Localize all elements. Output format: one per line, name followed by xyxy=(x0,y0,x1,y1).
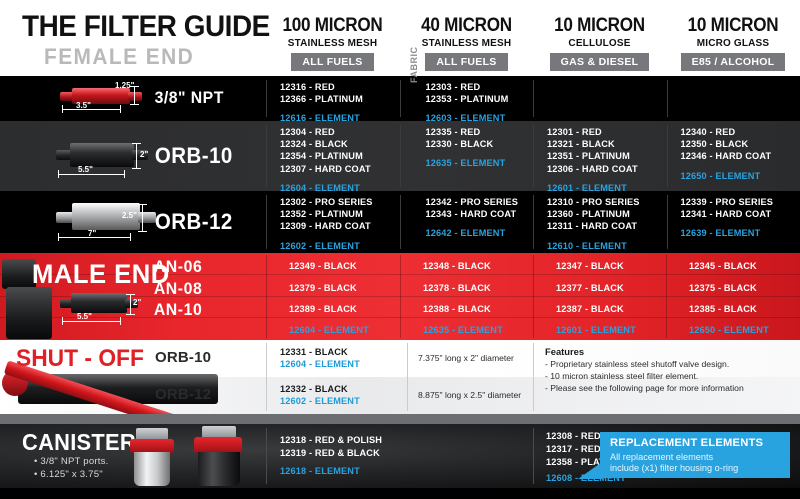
row-label-cell: 7" 2.5" ORB-12 xyxy=(0,191,266,253)
filter-photo-orb10 xyxy=(56,142,148,168)
cell-orb12-10micron-cellulose: 12310 - PRO SERIES 12360 - PLATINUM 1231… xyxy=(533,191,667,253)
part-number: 12341 - HARD COAT xyxy=(681,208,800,220)
part-number: 12347 - BLACK xyxy=(556,261,624,271)
part-number-element: 12639 - ELEMENT xyxy=(681,227,800,239)
cell-orb10-100micron: 12304 - RED 12324 - BLACK 12354 - PLATIN… xyxy=(266,121,400,191)
part-number: 12387 - BLACK xyxy=(556,304,624,314)
part-number: 12354 - PLATINUM xyxy=(280,150,400,162)
canister-bullet: • 6.125" x 3.75" xyxy=(34,469,103,480)
fabric-side-note: FABRIC xyxy=(409,47,419,84)
feature-item: - 10 micron stainless steel filter eleme… xyxy=(545,371,698,381)
part-number: 12302 - PRO SERIES xyxy=(280,196,400,208)
part-number: 12331 - BLACK xyxy=(280,347,348,357)
shutoff-dimension: 8.875" long x 2.5" diameter xyxy=(418,390,521,400)
canister-title: CANISTER xyxy=(22,429,136,456)
callout-line-1: All replacement elements xyxy=(610,452,713,463)
header-fuel-badge: ALL FUELS xyxy=(425,53,507,71)
page-header: THE FILTER GUIDE FEMALE END 100 MICRON S… xyxy=(0,0,800,76)
row-label-orb-10: ORB-10 xyxy=(155,143,233,169)
male-size-an-10: AN-10 xyxy=(154,300,202,320)
shutoff-dimension: 7.375" long x 2" diameter xyxy=(418,353,514,363)
shut-off-section: SHUT - OFF ORB-10 12331 - BLACK 12604 - … xyxy=(0,340,800,414)
cell-38npt-100micron: 12316 - RED 12366 - PLATINUM 12616 - ELE… xyxy=(266,76,400,121)
part-number-element: 12635 - ELEMENT xyxy=(423,325,503,335)
part-number: 12307 - HARD COAT xyxy=(280,163,400,175)
header-column-100-micron: 100 MICRON STAINLESS MESH ALL FUELS xyxy=(266,16,399,71)
part-number: 12311 - HARD COAT xyxy=(547,220,667,232)
shut-off-title: SHUT - OFF xyxy=(16,345,144,373)
filter-photo-orb12 xyxy=(56,203,156,231)
part-number: 12377 - BLACK xyxy=(556,283,624,293)
dimension-length: 3.5" xyxy=(76,101,91,110)
dimension-diameter: 2.5" xyxy=(122,211,137,220)
table-row-orb-10: 5.5" 2" ORB-10 12304 - RED 12324 - BLACK… xyxy=(0,121,800,191)
header-micron-label: 40 MICRON xyxy=(407,16,527,36)
part-number: 12352 - PLATINUM xyxy=(280,208,400,220)
dimension-length: 5.5" xyxy=(78,165,93,174)
cell-38npt-40micron: FABRIC 12303 - RED 12353 - PLATINUM 1260… xyxy=(400,76,534,121)
callout-line-2: include (x1) filter housing o-ring xyxy=(610,463,738,474)
part-number-element: 12604 - ELEMENT xyxy=(289,325,369,335)
part-number: 12319 - RED & BLACK xyxy=(280,448,380,458)
part-number: 12301 - RED xyxy=(547,126,667,138)
part-number-element: 12635 - ELEMENT xyxy=(426,157,534,169)
part-number-element: 12642 - ELEMENT xyxy=(426,227,534,239)
filter-photo-male xyxy=(60,293,140,313)
dimension-length: 5.5" xyxy=(77,312,92,321)
part-number: 12349 - BLACK xyxy=(289,261,357,271)
part-number: 12306 - HARD COAT xyxy=(547,163,667,175)
part-number-element: 12618 - ELEMENT xyxy=(280,466,360,476)
part-number: 12304 - RED xyxy=(280,126,400,138)
canister-bullet: • 3/8" NPT ports. xyxy=(34,456,109,467)
part-number: 12330 - BLACK xyxy=(426,138,534,150)
part-number-element: 12610 - ELEMENT xyxy=(547,240,667,252)
dimension-diameter: 2" xyxy=(133,298,141,307)
part-number: 12303 - RED xyxy=(426,81,534,93)
cell-orb10-10micron-cellulose: 12301 - RED 12321 - BLACK 12351 - PLATIN… xyxy=(533,121,667,191)
part-number: 12375 - BLACK xyxy=(689,283,757,293)
header-fuel-badge: E85 / ALCOHOL xyxy=(681,53,786,71)
part-number: 12350 - BLACK xyxy=(681,138,800,150)
part-number-element: 12650 - ELEMENT xyxy=(681,170,800,182)
filter-guide-page: THE FILTER GUIDE FEMALE END 100 MICRON S… xyxy=(0,0,800,499)
section-separator-bar xyxy=(0,414,800,424)
part-number: 12316 - RED xyxy=(280,81,400,93)
part-number: 12351 - PLATINUM xyxy=(547,150,667,162)
canister-photo-polish xyxy=(122,428,182,486)
part-number: 12346 - HARD COAT xyxy=(681,150,800,162)
part-number-element: 12650 - ELEMENT xyxy=(689,325,769,335)
header-material-label: STAINLESS MESH xyxy=(269,37,395,49)
part-number: 12310 - PRO SERIES xyxy=(547,196,667,208)
male-size-an-06: AN-06 xyxy=(154,257,202,277)
dimension-diameter: 1.25" xyxy=(115,81,134,90)
page-subtitle: FEMALE END xyxy=(44,44,194,70)
part-number: 12345 - BLACK xyxy=(689,261,757,271)
part-number: 12388 - BLACK xyxy=(423,304,491,314)
cell-orb12-40micron: 12342 - PRO SERIES 12343 - HARD COAT 126… xyxy=(400,191,534,253)
header-material-label: CELLULOSE xyxy=(536,37,662,49)
part-number: 12342 - PRO SERIES xyxy=(426,196,534,208)
features-title: Features xyxy=(545,346,584,357)
cell-orb10-40micron: 12335 - RED 12330 - BLACK 12635 - ELEMEN… xyxy=(400,121,534,191)
replacement-elements-callout: REPLACEMENT ELEMENTS All replacement ele… xyxy=(600,432,790,478)
header-fuel-badge: ALL FUELS xyxy=(291,53,373,71)
shutoff-row-label-orb-10: ORB-10 xyxy=(155,349,211,366)
part-number: 12389 - BLACK xyxy=(289,304,357,314)
cell-orb12-100micron: 12302 - PRO SERIES 12352 - PLATINUM 1230… xyxy=(266,191,400,253)
part-number: 12340 - RED xyxy=(681,126,800,138)
part-number: 12332 - BLACK xyxy=(280,384,348,394)
table-row-38-npt: 3.5" 1.25" 3/8" NPT 12316 - RED 12366 - … xyxy=(0,76,800,121)
header-micron-label: 10 MICRON xyxy=(540,16,660,36)
cell-38npt-10micron-microglass xyxy=(667,76,800,121)
part-number: 12348 - BLACK xyxy=(423,261,491,271)
header-column-10-micron-micro-glass: 10 MICRON MICRO GLASS E85 / ALCOHOL xyxy=(666,16,800,71)
canister-photo-black xyxy=(188,426,250,486)
male-end-title: MALE END xyxy=(32,259,170,290)
part-number: 12335 - RED xyxy=(426,126,534,138)
part-number-element: 12602 - ELEMENT xyxy=(280,240,400,252)
callout-title: REPLACEMENT ELEMENTS xyxy=(610,437,763,449)
header-micron-label: 10 MICRON xyxy=(673,16,794,36)
dimension-length: 7" xyxy=(88,229,96,238)
row-label-38-npt: 3/8" NPT xyxy=(155,88,224,108)
cell-38npt-10micron-cellulose xyxy=(533,76,667,121)
row-label-cell: 5.5" 2" ORB-10 xyxy=(0,121,266,191)
part-number: 12324 - BLACK xyxy=(280,138,400,150)
part-number: 12379 - BLACK xyxy=(289,283,357,293)
feature-item: - Please see the following page for more… xyxy=(545,383,744,393)
header-column-40-micron: 40 MICRON STAINLESS MESH ALL FUELS xyxy=(400,16,533,71)
callout-tail xyxy=(578,462,602,479)
shutoff-row-label-orb-12: ORB-12 xyxy=(155,386,211,403)
feature-item: - Proprietary stainless steel shutoff va… xyxy=(545,359,729,369)
header-material-label: STAINLESS MESH xyxy=(403,37,529,49)
female-end-table: 3.5" 1.25" 3/8" NPT 12316 - RED 12366 - … xyxy=(0,76,800,488)
cell-orb12-10micron-microglass: 12339 - PRO SERIES 12341 - HARD COAT 126… xyxy=(667,191,800,253)
header-fuel-badge: GAS & DIESEL xyxy=(550,53,650,71)
part-number: 12339 - PRO SERIES xyxy=(681,196,800,208)
header-column-10-micron-cellulose: 10 MICRON CELLULOSE GAS & DIESEL xyxy=(533,16,666,71)
dimension-diameter: 2" xyxy=(140,150,148,159)
part-number: 12353 - PLATINUM xyxy=(426,93,534,105)
row-label-cell: 3.5" 1.25" 3/8" NPT xyxy=(0,76,266,121)
part-number: 12321 - BLACK xyxy=(547,138,667,150)
part-number: 12309 - HARD COAT xyxy=(280,220,400,232)
header-material-label: MICRO GLASS xyxy=(669,37,796,49)
part-number: 12343 - HARD COAT xyxy=(426,208,534,220)
part-number: 12385 - BLACK xyxy=(689,304,757,314)
part-number-element: 12604 - ELEMENT xyxy=(280,359,360,369)
part-number-element: 12602 - ELEMENT xyxy=(280,396,360,406)
canister-section: CANISTER • 3/8" NPT ports. • 6.125" x 3.… xyxy=(0,424,800,488)
table-row-orb-12: 7" 2.5" ORB-12 12302 - PRO SERIES 12352 … xyxy=(0,191,800,253)
part-number: 12318 - RED & POLISH xyxy=(280,435,382,445)
page-title: THE FILTER GUIDE xyxy=(22,10,270,44)
male-end-section: 5.5" 2" MALE END AN-06 AN-08 AN-10 12349… xyxy=(0,253,800,340)
part-number-element: 12601 - ELEMENT xyxy=(556,325,636,335)
male-size-an-08: AN-08 xyxy=(154,279,202,299)
part-number: 12360 - PLATINUM xyxy=(547,208,667,220)
cell-orb10-10micron-microglass: 12340 - RED 12350 - BLACK 12346 - HARD C… xyxy=(667,121,800,191)
header-micron-label: 100 MICRON xyxy=(273,16,393,36)
row-label-orb-12: ORB-12 xyxy=(155,209,233,235)
part-number: 12378 - BLACK xyxy=(423,283,491,293)
part-number: 12366 - PLATINUM xyxy=(280,93,400,105)
